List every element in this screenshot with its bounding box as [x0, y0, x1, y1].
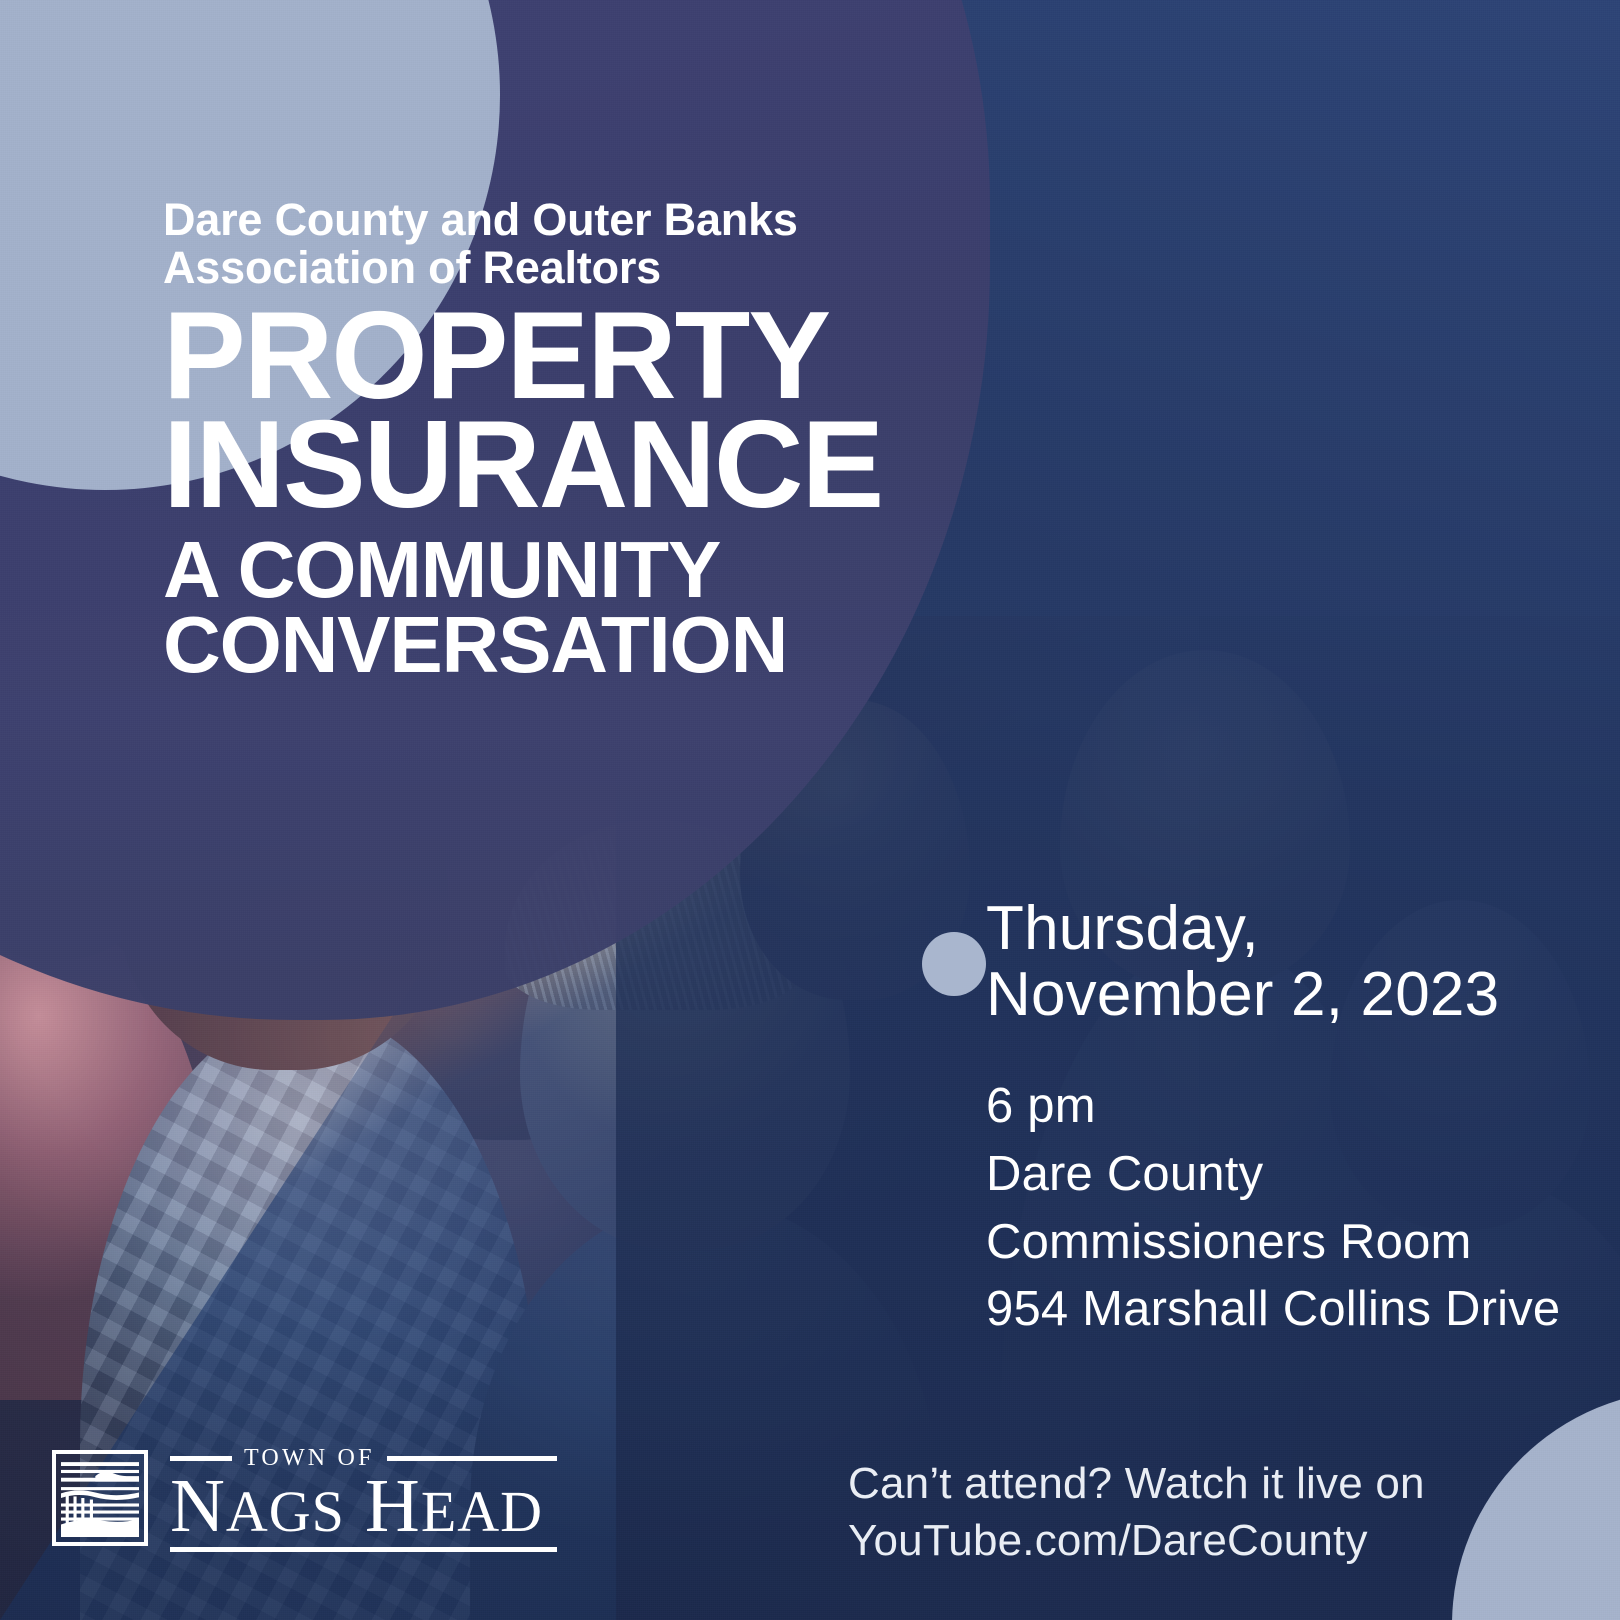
- watch-live-line-1: Can’t attend? Watch it live on: [848, 1455, 1488, 1512]
- logo-name-ead: EAD: [421, 1479, 543, 1544]
- logo-wordmark: TOWN OF NAGS HEAD: [170, 1445, 557, 1552]
- logo-rule-bottom: [170, 1547, 557, 1552]
- nags-head-dune-fence-icon: [52, 1450, 148, 1546]
- event-date-line-1: Thursday,: [986, 896, 1566, 962]
- kicker-line-1: Dare County and Outer Banks: [163, 196, 1063, 244]
- event-venue-line-2: Commissioners Room: [986, 1209, 1566, 1277]
- watch-live-note: Can’t attend? Watch it live on YouTube.c…: [848, 1455, 1488, 1569]
- event-location-block: 6 pm Dare County Commissioners Room 954 …: [986, 1073, 1566, 1343]
- town-of-nags-head-logo: TOWN OF NAGS HEAD: [52, 1445, 557, 1552]
- subtitle-line-1: A COMMUNITY: [163, 531, 1063, 609]
- subtitle-line-2: CONVERSATION: [163, 606, 1063, 684]
- logo-name-h: H: [365, 1464, 421, 1548]
- logo-name-text: NAGS HEAD: [170, 1470, 557, 1543]
- logo-rule-right: [387, 1456, 557, 1461]
- event-date: Thursday, November 2, 2023: [986, 896, 1566, 1027]
- poster-content: Dare County and Outer Banks Association …: [0, 0, 1620, 1620]
- logo-name-n: N: [170, 1464, 226, 1548]
- event-poster: Dare County and Outer Banks Association …: [0, 0, 1620, 1620]
- dot-icon: [922, 932, 986, 996]
- event-time: 6 pm: [986, 1073, 1566, 1141]
- event-details-block: Thursday, November 2, 2023 6 pm Dare Cou…: [986, 896, 1566, 1344]
- watch-live-link[interactable]: YouTube.com/DareCounty: [848, 1512, 1488, 1569]
- kicker-line-2: Association of Realtors: [163, 244, 1063, 292]
- event-address: 954 Marshall Collins Drive: [986, 1276, 1566, 1344]
- event-date-line-2: November 2, 2023: [986, 962, 1566, 1028]
- headline-block: Dare County and Outer Banks Association …: [163, 196, 1063, 684]
- event-venue-line-1: Dare County: [986, 1141, 1566, 1209]
- logo-rule-left: [170, 1456, 232, 1461]
- logo-name-ags: AGS: [226, 1479, 345, 1544]
- title-line-2: INSURANCE: [163, 407, 1063, 524]
